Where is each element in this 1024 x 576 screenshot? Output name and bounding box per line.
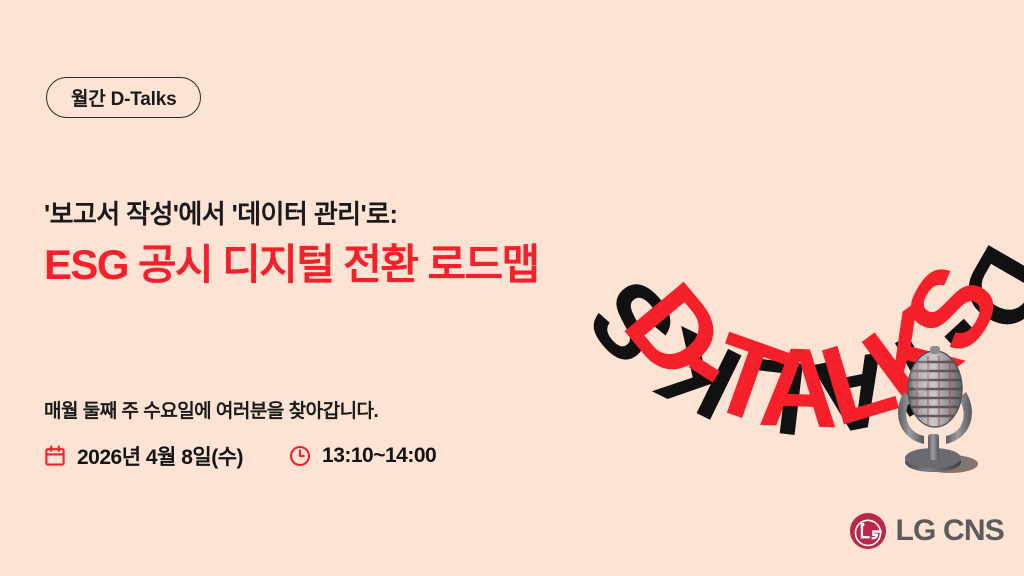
- event-date-text: 2026년 4월 8일(수): [77, 441, 243, 471]
- clock-icon: [289, 445, 311, 467]
- event-time: 13:10~14:00: [289, 444, 436, 468]
- program-badge: 월간 D-Talks: [46, 77, 201, 118]
- dtalks-wordmark-artwork: D-TALKS D-TALKS: [612, 132, 1024, 502]
- lg-cns-logo-text: LG CNS: [895, 516, 1004, 546]
- lg-logo-icon: [849, 512, 887, 550]
- event-time-text: 13:10~14:00: [322, 444, 436, 468]
- schedule-block: 매월 둘째 주 수요일에 여러분을 찾아갑니다. 2026년 4월 8일(수): [44, 396, 604, 471]
- headline-block: '보고서 작성'에서 '데이터 관리'로: ESG 공시 디지털 전환 로드맵: [44, 198, 684, 291]
- event-date: 2026년 4월 8일(수): [44, 441, 243, 471]
- lg-cns-logo: LG CNS: [849, 512, 1004, 550]
- microphone-icon: [884, 340, 986, 480]
- promo-banner: 월간 D-Talks '보고서 작성'에서 '데이터 관리'로: ESG 공시 …: [0, 0, 1024, 576]
- calendar-icon: [44, 445, 66, 467]
- headline-title: ESG 공시 디지털 전환 로드맵: [44, 240, 684, 290]
- schedule-row: 2026년 4월 8일(수) 13:10~14:00: [44, 441, 604, 471]
- headline-kicker: '보고서 작성'에서 '데이터 관리'로:: [44, 198, 684, 230]
- schedule-note: 매월 둘째 주 수요일에 여러분을 찾아갑니다.: [44, 396, 604, 423]
